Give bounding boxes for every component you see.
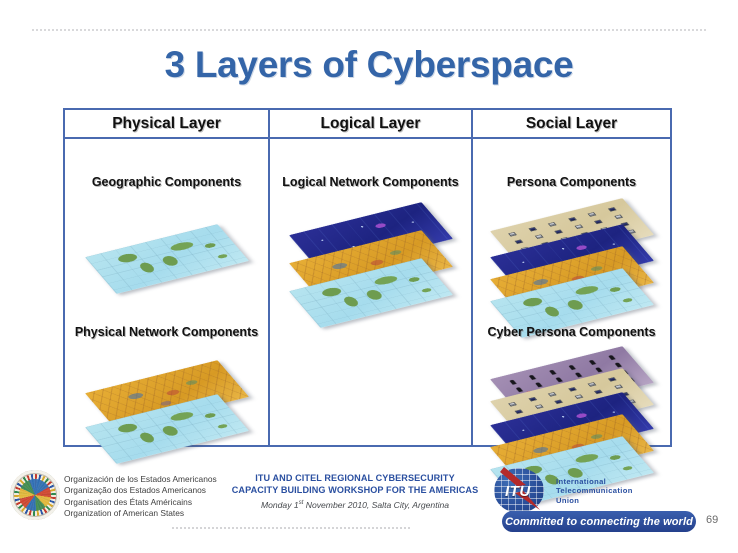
column-cell-social: Persona Components xyxy=(471,139,670,445)
computer-icon xyxy=(534,234,543,239)
event-date-prefix: Monday 1 xyxy=(261,500,299,510)
section-label-persona-components: Persona Components xyxy=(473,175,670,189)
person-icon xyxy=(569,365,576,370)
computer-icon xyxy=(594,390,603,395)
person-icon xyxy=(608,355,615,360)
section-label-physical-network-components: Physical Network Components xyxy=(65,325,268,339)
column-header-social: Social Layer xyxy=(471,110,670,137)
table-body-row: Geographic Components Physical Network C… xyxy=(65,139,670,445)
computer-icon xyxy=(508,402,517,407)
person-icon xyxy=(529,375,536,380)
page-title: 3 Layers of Cyberspace xyxy=(0,44,738,86)
section-label-geographic-components: Geographic Components xyxy=(65,175,268,189)
page-number: 69 xyxy=(706,514,718,526)
computer-icon xyxy=(514,239,523,244)
top-dotted-rule xyxy=(32,29,708,31)
itu-name-line3: Union xyxy=(556,496,633,505)
computer-icon xyxy=(587,212,596,217)
event-title-line1: ITU AND CITEL REGIONAL CYBERSECURITY xyxy=(222,472,488,484)
computer-icon xyxy=(587,382,596,387)
computer-icon xyxy=(528,397,537,402)
oas-seal-icon xyxy=(10,470,60,520)
itu-acronym: ITU xyxy=(505,483,531,500)
illustration-logical-network-components xyxy=(270,195,471,325)
column-header-physical: Physical Layer xyxy=(65,110,268,137)
computer-icon xyxy=(614,215,623,220)
computer-icon xyxy=(548,222,557,227)
column-header-label: Logical Layer xyxy=(321,115,421,133)
slide-canvas: 3 Layers of Cyberspace Physical Layer Lo… xyxy=(0,0,738,553)
column-header-label: Physical Layer xyxy=(112,115,221,133)
event-date-suffix: November 2010, Salta City, Argentina xyxy=(303,500,449,510)
illustration-geographic-components xyxy=(65,195,268,325)
person-icon xyxy=(515,387,522,392)
section-label-cyber-persona-components: Cyber Persona Components xyxy=(473,325,670,339)
table-header-row: Physical Layer Logical Layer Social Laye… xyxy=(65,110,670,139)
layers-table: Physical Layer Logical Layer Social Laye… xyxy=(63,108,672,447)
computer-icon xyxy=(607,377,616,382)
person-icon xyxy=(535,382,542,387)
bottom-dotted-rule xyxy=(172,527,412,529)
computer-icon xyxy=(607,207,616,212)
itu-name-line2: Telecommunication xyxy=(556,486,633,495)
computer-icon xyxy=(554,230,563,235)
computer-icon xyxy=(568,387,577,392)
section-label-logical-network-components: Logical Network Components xyxy=(270,175,471,189)
column-cell-physical: Geographic Components Physical Network C… xyxy=(65,139,268,445)
person-icon xyxy=(555,377,562,382)
illustration-cyber-persona-components xyxy=(473,345,670,475)
column-cell-logical: Logical Network Components xyxy=(268,139,471,445)
computer-icon xyxy=(548,392,557,397)
illustration-persona-components xyxy=(473,195,670,325)
column-header-label: Social Layer xyxy=(526,115,617,133)
itu-full-name: International Telecommunication Union xyxy=(556,477,633,505)
computer-icon xyxy=(554,400,563,405)
computer-icon xyxy=(534,404,543,409)
person-icon xyxy=(549,370,556,375)
computer-icon xyxy=(594,220,603,225)
computer-icon xyxy=(574,225,583,230)
event-info: ITU AND CITEL REGIONAL CYBERSECURITY CAP… xyxy=(222,472,488,512)
itu-tagline: Committed to connecting the world xyxy=(502,511,696,532)
event-date-location: Monday 1st November 2010, Salta City, Ar… xyxy=(222,497,488,512)
illustration-physical-network-components xyxy=(65,345,268,475)
itu-name-line1: International xyxy=(556,477,633,486)
column-header-logical: Logical Layer xyxy=(268,110,471,137)
computer-icon xyxy=(574,395,583,400)
itu-logo: ITU xyxy=(494,466,556,514)
computer-icon xyxy=(528,227,537,232)
person-icon xyxy=(588,360,595,365)
computer-icon xyxy=(614,385,623,390)
person-icon xyxy=(615,363,622,368)
computer-icon xyxy=(508,232,517,237)
computer-icon xyxy=(568,217,577,222)
computer-icon xyxy=(514,409,523,414)
plane-geographic xyxy=(84,224,248,294)
person-icon xyxy=(509,380,516,385)
event-title-line2: CAPACITY BUILDING WORKSHOP FOR THE AMERI… xyxy=(222,484,488,496)
person-icon xyxy=(595,367,602,372)
person-icon xyxy=(575,372,582,377)
